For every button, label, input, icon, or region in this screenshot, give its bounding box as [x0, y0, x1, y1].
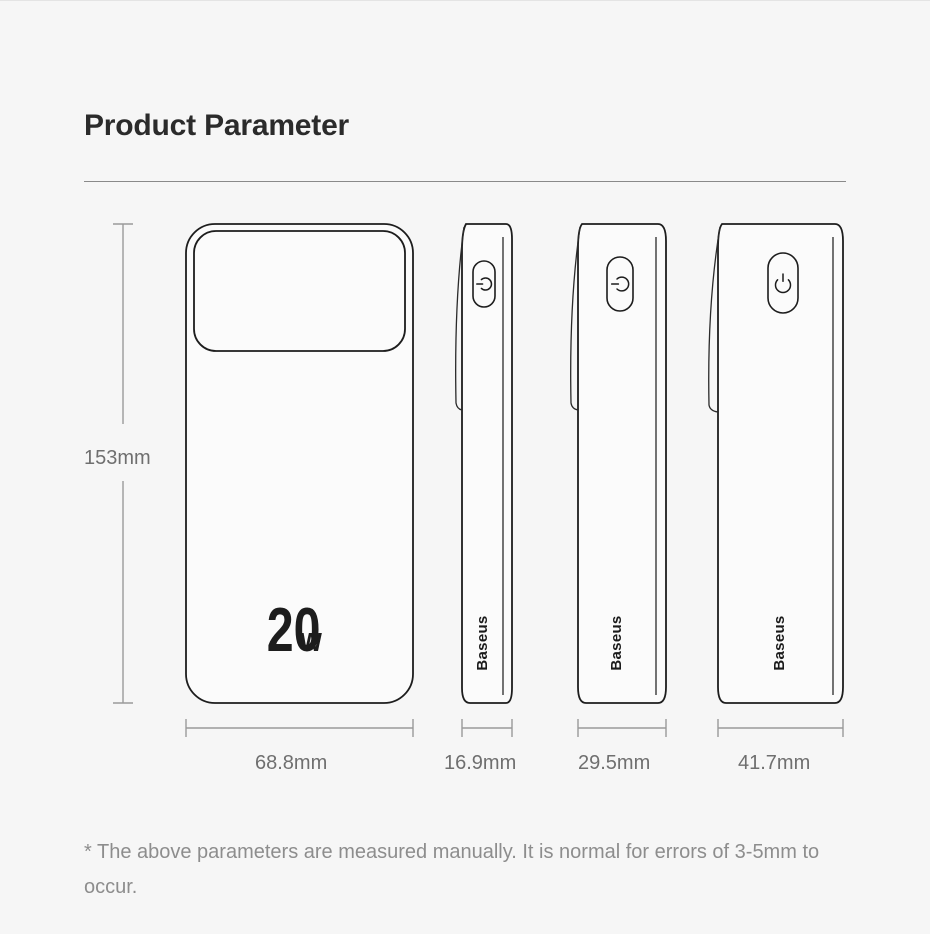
side-medium-width-dimension: [578, 719, 666, 737]
page-title: Product Parameter: [84, 109, 349, 143]
side-thin-width-dimension: [462, 719, 512, 737]
side-medium-width-label: 29.5mm: [578, 752, 650, 774]
side-wide-width-label: 41.7mm: [738, 752, 810, 774]
power-button[interactable]: [768, 253, 798, 313]
power-rating-unit: w: [299, 620, 322, 658]
side-wide-width-dimension: [718, 719, 843, 737]
side-view-wide: Baseus: [709, 224, 843, 703]
brand-label: Baseus: [474, 615, 491, 670]
front-width-dimension: [186, 719, 413, 737]
footnote-text: * The above parameters are measured manu…: [84, 835, 844, 905]
power-rating-mark: 20 w: [267, 595, 323, 664]
title-divider: [84, 181, 846, 182]
brand-label: Baseus: [771, 615, 788, 670]
front-width-label: 68.8mm: [255, 752, 327, 774]
product-parameter-page: Product Parameter 153mm 20 w: [0, 0, 930, 934]
front-view: 20 w: [186, 224, 413, 703]
side-view-medium: Baseus: [571, 224, 666, 703]
side-view-thin: Baseus: [456, 224, 512, 703]
height-dimension-label: 153mm: [84, 447, 151, 469]
brand-label: Baseus: [608, 615, 625, 670]
side-thin-width-label: 16.9mm: [444, 752, 516, 774]
product-dimension-diagram: 153mm 20 w 68.8mm: [0, 191, 930, 791]
